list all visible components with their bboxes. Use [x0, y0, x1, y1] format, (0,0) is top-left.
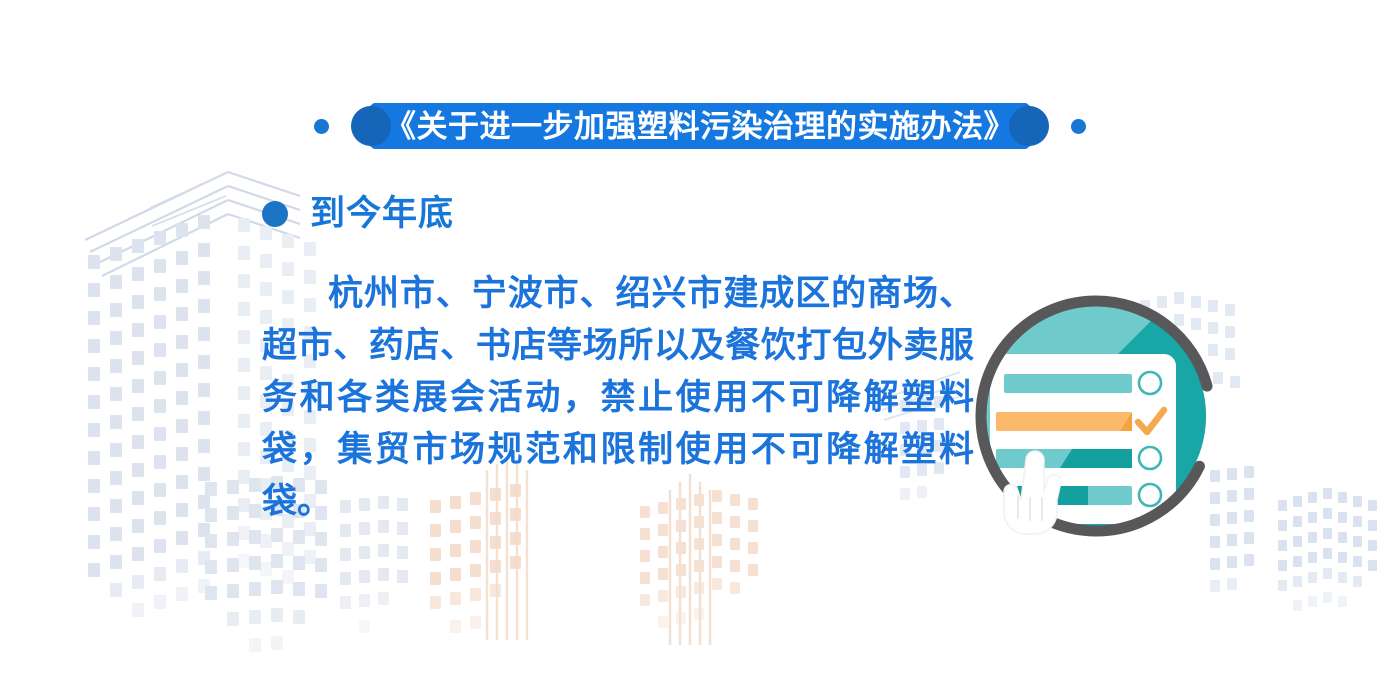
building-far-right: [1278, 488, 1377, 611]
subtitle-row: 到今年底: [262, 196, 454, 231]
bullet-icon: [262, 201, 288, 227]
title-decoration-small-dot-left: [314, 119, 329, 134]
poster-canvas: 《关于进一步加强塑料污染治理的实施办法》 到今年底 杭州市、宁波市、绍兴市建成区…: [0, 0, 1400, 700]
checklist-bar: [1004, 374, 1132, 393]
checklist-bar: [996, 412, 1132, 431]
checklist-bar-shadow: [1060, 449, 1132, 468]
checklist-illustration: [968, 288, 1224, 544]
title-decoration-large-dot-left: [351, 106, 391, 146]
title-banner: 《关于进一步加强塑料污染治理的实施办法》: [371, 103, 1029, 149]
title-decoration-large-dot-right: [1009, 106, 1049, 146]
building-roof-lines-2: [150, 174, 226, 226]
building-left-face-windows: [88, 215, 210, 617]
page-title: 《关于进一步加强塑料污染治理的实施办法》: [385, 111, 1015, 142]
body-paragraph: 杭州市、宁波市、绍兴市建成区的商场、超市、药店、书店等场所以及餐饮打包外卖服务和…: [262, 268, 974, 528]
title-decoration-small-dot-right: [1071, 119, 1086, 134]
title-banner-row: 《关于进一步加强塑料污染治理的实施办法》: [0, 100, 1400, 152]
subtitle-text: 到今年底: [310, 196, 454, 231]
